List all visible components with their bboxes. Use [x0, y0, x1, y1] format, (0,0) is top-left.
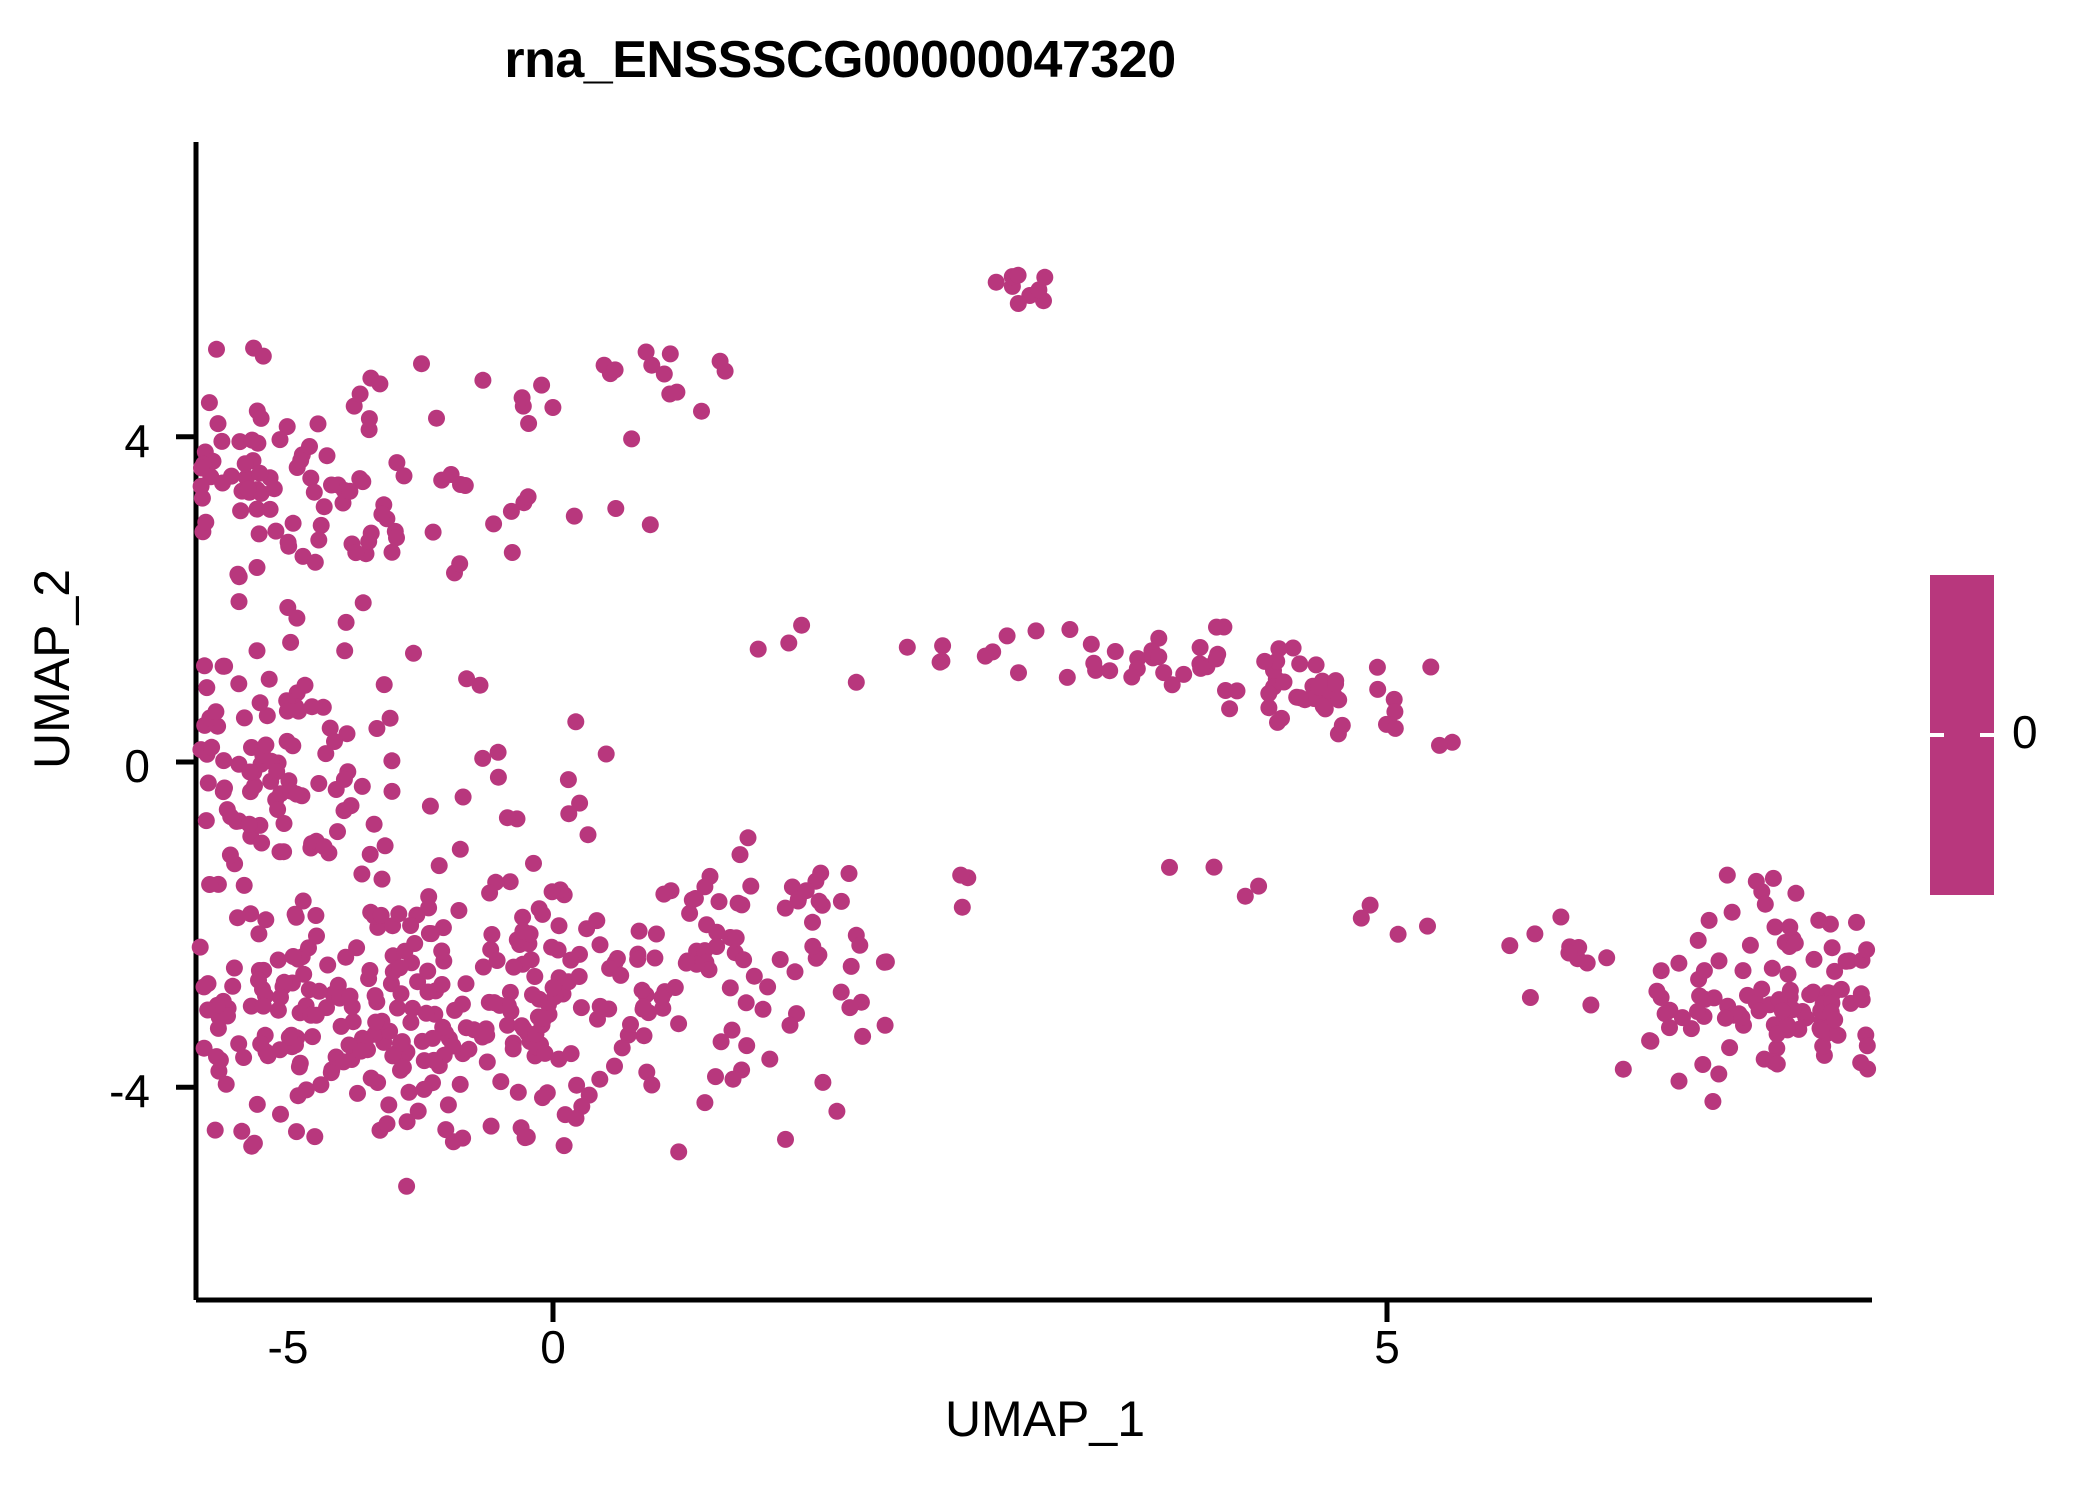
data-point: [545, 979, 562, 996]
data-point: [544, 399, 561, 416]
data-point: [732, 846, 749, 863]
data-point: [266, 480, 283, 497]
data-point: [634, 982, 651, 999]
data-point: [338, 614, 355, 631]
data-point: [687, 890, 704, 907]
data-point: [421, 925, 438, 942]
data-point: [229, 566, 246, 583]
data-point: [246, 1135, 263, 1152]
data-point: [622, 1016, 639, 1033]
data-point: [728, 929, 745, 946]
data-point: [510, 1084, 527, 1101]
data-point: [492, 1073, 509, 1090]
data-point: [1387, 720, 1404, 737]
data-point: [1327, 675, 1344, 692]
data-point: [229, 909, 246, 926]
data-point: [1753, 981, 1770, 998]
color-legend: 0: [1930, 575, 2080, 895]
data-point: [268, 763, 285, 780]
data-point: [1175, 666, 1192, 683]
data-point: [1782, 982, 1799, 999]
data-point: [376, 676, 393, 693]
data-point: [1192, 660, 1209, 677]
data-point: [1717, 1010, 1734, 1027]
data-point: [272, 989, 289, 1006]
data-point: [308, 1007, 325, 1024]
data-point: [213, 433, 230, 450]
data-point: [954, 899, 971, 916]
data-point: [479, 1054, 496, 1071]
data-point: [560, 805, 577, 822]
data-point: [1101, 662, 1118, 679]
data-point: [1431, 737, 1448, 754]
data-point: [517, 1129, 534, 1146]
scatter-plot-canvas: [0, 0, 2100, 1500]
data-point: [782, 1017, 799, 1034]
data-point: [244, 432, 261, 449]
data-point: [399, 1113, 416, 1130]
data-point: [798, 882, 815, 899]
data-point: [198, 812, 215, 829]
data-point: [253, 835, 270, 852]
data-point: [571, 968, 588, 985]
data-point: [693, 403, 710, 420]
data-point: [235, 1049, 252, 1066]
data-point: [592, 998, 609, 1015]
data-point: [544, 883, 561, 900]
data-point: [226, 960, 243, 977]
data-point: [755, 1001, 772, 1018]
data-point: [292, 452, 309, 469]
data-point: [662, 345, 679, 362]
data-point: [772, 951, 789, 968]
data-point: [481, 885, 498, 902]
data-point: [255, 998, 272, 1015]
data-point: [349, 1085, 366, 1102]
data-point: [380, 1096, 397, 1113]
data-point: [201, 876, 218, 893]
data-point: [614, 1039, 631, 1056]
data-point: [450, 902, 467, 919]
data-point: [1310, 679, 1327, 696]
data-point: [373, 506, 390, 523]
data-point: [712, 353, 729, 370]
data-point: [1330, 691, 1347, 708]
data-point: [207, 1122, 224, 1139]
data-point: [272, 1106, 289, 1123]
data-point: [355, 594, 372, 611]
data-point: [1522, 989, 1539, 1006]
data-point: [777, 1131, 794, 1148]
data-point: [537, 1045, 554, 1062]
data-point: [224, 978, 241, 995]
data-point: [347, 544, 364, 561]
data-point: [288, 610, 305, 627]
data-point: [1552, 909, 1569, 926]
data-point: [251, 525, 268, 542]
data-point: [1751, 1002, 1768, 1019]
data-point: [568, 1077, 585, 1094]
data-point: [1711, 952, 1728, 969]
data-point: [524, 986, 541, 1003]
data-point: [573, 999, 590, 1016]
data-point: [249, 559, 266, 576]
data-point: [304, 1028, 321, 1045]
data-point: [607, 361, 624, 378]
data-point: [841, 999, 858, 1016]
data-point: [252, 694, 269, 711]
data-point: [592, 936, 609, 953]
data-point: [606, 1058, 623, 1075]
data-point: [793, 617, 810, 634]
data-point: [215, 783, 232, 800]
data-point: [390, 905, 407, 922]
data-point: [368, 720, 385, 737]
data-point: [250, 972, 267, 989]
data-point: [1710, 1066, 1727, 1083]
data-point: [201, 394, 218, 411]
data-point: [366, 816, 383, 833]
data-point: [200, 775, 217, 792]
data-point: [485, 515, 502, 532]
data-point: [196, 978, 213, 995]
data-point: [425, 524, 442, 541]
data-point: [804, 938, 821, 955]
data-point: [707, 1068, 724, 1085]
data-point: [282, 634, 299, 651]
data-point: [1208, 619, 1225, 636]
data-point: [520, 488, 537, 505]
data-point: [1582, 997, 1599, 1014]
data-point: [396, 943, 413, 960]
data-point: [499, 809, 516, 826]
data-point: [311, 983, 328, 1000]
data-point: [580, 826, 597, 843]
data-point: [1422, 659, 1439, 676]
data-point: [711, 893, 728, 910]
data-point: [533, 377, 550, 394]
data-point: [249, 1096, 266, 1113]
y-tick-label-4: 4: [30, 414, 150, 468]
data-point: [1769, 1056, 1786, 1073]
data-point: [474, 372, 491, 389]
data-point: [431, 857, 448, 874]
data-point: [280, 534, 297, 551]
data-point: [833, 984, 850, 1001]
data-point: [218, 1076, 235, 1093]
data-point: [534, 906, 551, 923]
data-point: [270, 952, 287, 969]
x-tick-label-5: 5: [1307, 1320, 1467, 1374]
data-point: [466, 1021, 483, 1038]
data-point: [833, 893, 850, 910]
data-point: [440, 1096, 457, 1113]
data-point: [643, 1077, 660, 1094]
data-point: [738, 994, 755, 1011]
data-point: [562, 952, 579, 969]
data-point: [379, 1115, 396, 1132]
data-point: [361, 962, 378, 979]
data-point: [1787, 935, 1804, 952]
data-point: [262, 501, 279, 518]
data-point: [457, 477, 474, 494]
data-point: [804, 914, 821, 931]
data-point: [1774, 1003, 1791, 1020]
data-point: [988, 274, 1005, 291]
data-point: [483, 1118, 500, 1135]
data-point: [230, 675, 247, 692]
data-point: [1315, 698, 1332, 715]
data-point: [1598, 949, 1615, 966]
data-point: [333, 1018, 350, 1035]
data-point: [678, 955, 695, 972]
data-point: [323, 1064, 340, 1081]
data-point: [1806, 951, 1823, 968]
data-point: [740, 829, 757, 846]
data-point: [336, 642, 353, 659]
data-point: [420, 888, 437, 905]
data-point: [458, 975, 475, 992]
data-point: [851, 937, 868, 954]
data-point: [398, 1178, 415, 1195]
data-point: [696, 1094, 713, 1111]
data-point: [490, 769, 507, 786]
data-point: [489, 952, 506, 969]
data-point: [326, 733, 343, 750]
data-point: [285, 515, 302, 532]
data-point: [1353, 910, 1370, 927]
data-point: [215, 752, 232, 769]
data-point: [307, 554, 324, 571]
data-point: [434, 976, 451, 993]
data-point: [208, 1048, 225, 1065]
data-point: [389, 1000, 406, 1017]
data-point: [199, 1002, 216, 1019]
data-point: [405, 645, 422, 662]
data-point: [329, 823, 346, 840]
data-point: [446, 1002, 463, 1019]
data-point: [636, 1027, 653, 1044]
data-point: [933, 653, 950, 670]
data-point: [384, 783, 401, 800]
data-point: [1848, 914, 1865, 931]
data-point: [310, 415, 327, 432]
data-point: [444, 1038, 461, 1055]
data-point: [214, 475, 231, 492]
data-point: [1269, 714, 1286, 731]
data-point: [433, 472, 450, 489]
data-point: [750, 641, 767, 658]
data-point: [210, 415, 227, 432]
data-point: [1812, 1022, 1829, 1039]
data-point: [308, 928, 325, 945]
legend-tick-label-0: 0: [2012, 705, 2038, 759]
data-point: [203, 739, 220, 756]
legend-tick-right: [1980, 733, 1994, 737]
data-point: [1787, 885, 1804, 902]
data-point: [854, 1028, 871, 1045]
y-tick-label-neg4: -4: [30, 1064, 150, 1118]
data-point: [251, 465, 268, 482]
data-point: [1028, 622, 1045, 639]
data-point: [424, 1030, 441, 1047]
data-point: [418, 1005, 435, 1022]
data-point: [1670, 955, 1687, 972]
data-point: [1208, 650, 1225, 667]
y-axis-label: UMAP_2: [23, 569, 81, 769]
data-point: [722, 979, 739, 996]
data-point: [1719, 867, 1736, 884]
data-point: [503, 503, 520, 520]
data-point: [899, 639, 916, 656]
data-point: [642, 516, 659, 533]
data-point: [1369, 681, 1386, 698]
data-point: [402, 1014, 419, 1031]
data-point: [1229, 682, 1246, 699]
data-point: [472, 677, 489, 694]
data-point: [1237, 888, 1254, 905]
data-point: [272, 431, 289, 448]
data-point: [1526, 925, 1543, 942]
data-point: [241, 764, 258, 781]
data-point: [255, 348, 272, 365]
data-point: [1781, 919, 1798, 936]
data-point: [1648, 983, 1665, 1000]
data-point: [422, 798, 439, 815]
data-point: [275, 843, 292, 860]
data-point: [367, 987, 384, 1004]
data-point: [828, 1103, 845, 1120]
data-point: [536, 1010, 553, 1027]
data-point: [877, 1017, 894, 1034]
data-point: [1767, 919, 1784, 936]
data-point: [1260, 685, 1277, 702]
data-point: [525, 855, 542, 872]
data-point: [656, 366, 673, 383]
data-point: [232, 502, 249, 519]
data-point: [1291, 655, 1308, 672]
data-point: [216, 658, 233, 675]
data-point: [648, 926, 665, 943]
data-point: [843, 958, 860, 975]
data-point: [1742, 937, 1759, 954]
data-point: [474, 750, 491, 767]
data-point: [328, 781, 345, 798]
data-point: [269, 801, 286, 818]
data-point: [416, 1081, 433, 1098]
data-point: [500, 997, 517, 1014]
data-point: [1083, 636, 1100, 653]
data-point: [952, 867, 969, 884]
data-point: [1826, 1011, 1843, 1028]
data-point: [1206, 859, 1223, 876]
data-point: [1010, 267, 1027, 284]
data-point: [1757, 896, 1774, 913]
data-point: [198, 679, 215, 696]
data-point: [646, 950, 663, 967]
data-point: [1221, 700, 1238, 717]
data-point: [310, 775, 327, 792]
data-point: [483, 926, 500, 943]
data-point: [241, 816, 258, 833]
data-point: [1560, 945, 1577, 962]
data-point: [1653, 962, 1670, 979]
data-point: [1192, 639, 1209, 656]
data-point: [193, 478, 210, 495]
x-tick-label-neg5: -5: [208, 1320, 368, 1374]
data-point: [307, 907, 324, 924]
data-point: [738, 1037, 755, 1054]
data-point: [567, 713, 584, 730]
data-point: [1689, 1003, 1706, 1020]
data-point: [670, 1143, 687, 1160]
data-point: [934, 637, 951, 654]
data-point: [316, 838, 333, 855]
data-point: [514, 389, 531, 406]
data-point: [1810, 912, 1827, 929]
data-point: [1107, 643, 1124, 660]
data-point: [384, 544, 401, 561]
data-point: [374, 871, 391, 888]
data-point: [551, 917, 568, 934]
data-point: [761, 1051, 778, 1068]
data-point: [1780, 966, 1797, 983]
data-point: [313, 517, 330, 534]
data-point: [1059, 669, 1076, 686]
data-point: [395, 1059, 412, 1076]
data-point: [733, 896, 750, 913]
data-point: [377, 837, 394, 854]
data-point: [746, 968, 763, 985]
data-point: [713, 1033, 730, 1050]
data-point: [814, 1074, 831, 1091]
data-point: [1010, 664, 1027, 681]
data-point: [505, 1040, 522, 1057]
data-point: [455, 789, 472, 806]
data-point: [1833, 981, 1850, 998]
data-point: [841, 865, 858, 882]
data-point: [1704, 1093, 1721, 1110]
data-point: [591, 1071, 608, 1088]
data-point: [363, 1070, 380, 1087]
data-point: [353, 1043, 370, 1060]
data-point: [1724, 904, 1741, 921]
data-point: [297, 677, 314, 694]
data-point: [1748, 873, 1765, 890]
data-point: [1690, 932, 1707, 949]
data-point: [208, 341, 225, 358]
data-point: [670, 1015, 687, 1032]
data-point: [383, 752, 400, 769]
data-point: [310, 532, 327, 549]
data-point: [1085, 655, 1102, 672]
data-point: [1061, 621, 1078, 638]
data-point: [285, 948, 302, 965]
data-point: [1036, 269, 1053, 286]
data-point: [352, 386, 369, 403]
data-point: [362, 846, 379, 863]
data-point: [1826, 963, 1843, 980]
data-point: [288, 786, 305, 803]
data-point: [876, 954, 893, 971]
data-point: [222, 808, 239, 825]
data-point: [1735, 962, 1752, 979]
data-point: [319, 447, 336, 464]
data-point: [295, 966, 312, 983]
data-point: [1501, 937, 1518, 954]
data-point: [638, 344, 655, 361]
data-point: [222, 847, 239, 864]
